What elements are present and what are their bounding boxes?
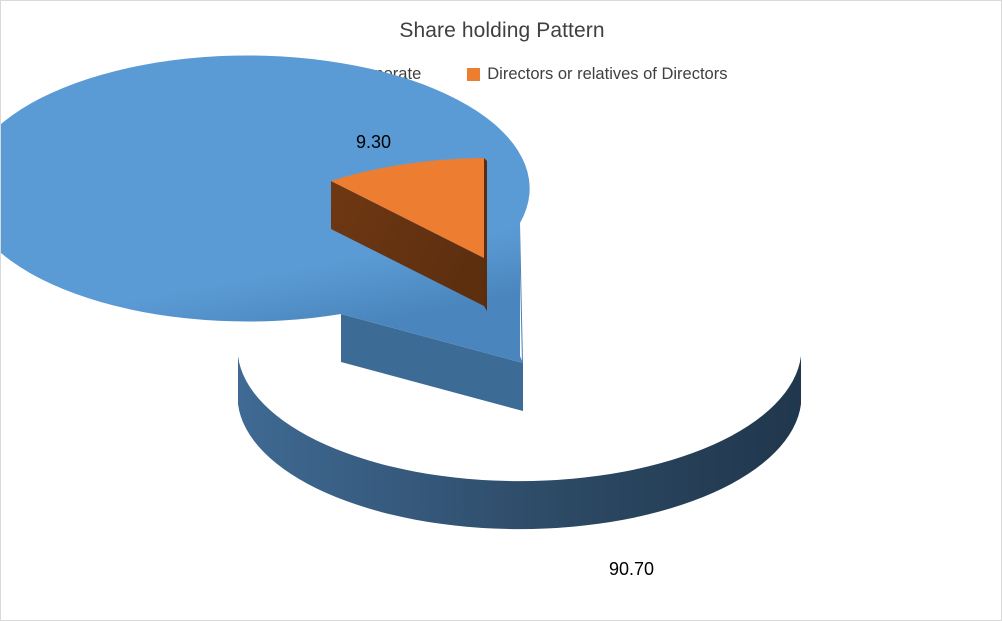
pie-slice-directors-outer-wall xyxy=(484,158,487,311)
data-label-directors: 9.30 xyxy=(356,132,391,153)
data-label-bodies-corporate: 90.70 xyxy=(609,559,654,580)
pie-slice-bodies-corporate[interactable] xyxy=(1,55,801,529)
pie-chart-graphic xyxy=(1,1,1002,621)
chart-container: Share holding Pattern Bodies corporate D… xyxy=(0,0,1002,621)
